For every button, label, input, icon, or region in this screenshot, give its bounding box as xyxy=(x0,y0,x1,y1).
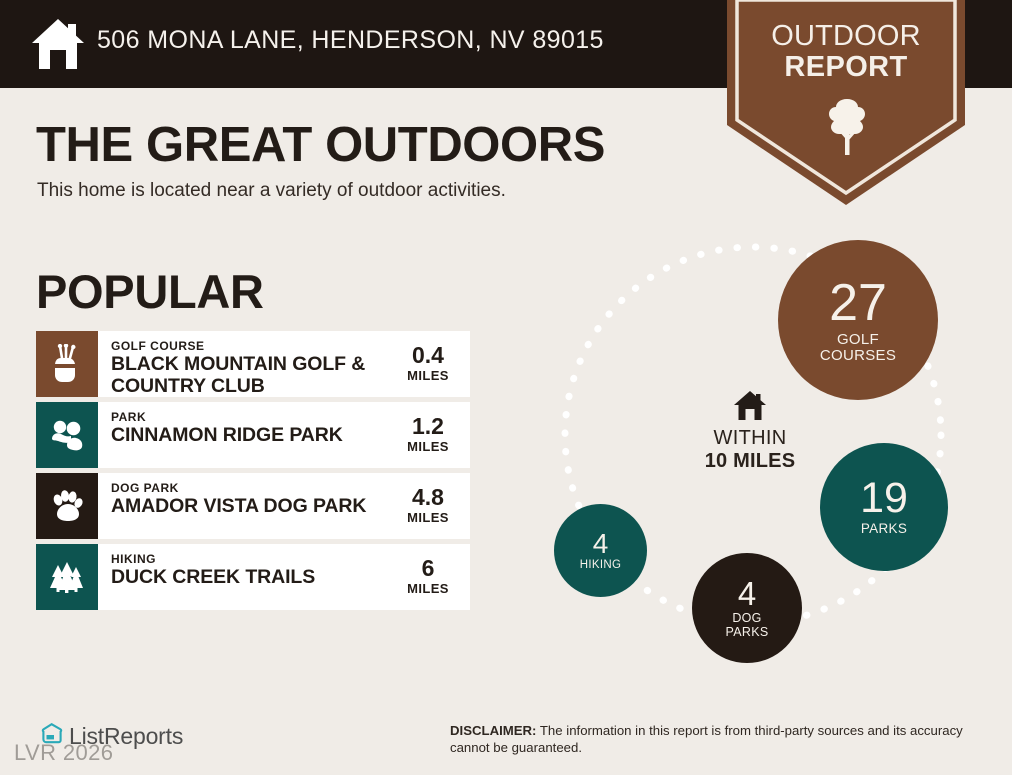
disclaimer-label: DISCLAIMER: xyxy=(450,723,536,738)
poi-body: GOLF COURSE BLACK MOUNTAIN GOLF & COUNTR… xyxy=(98,331,386,397)
stat-label-line2: PARKS xyxy=(726,626,769,639)
poi-distance: 0.4 MILES xyxy=(386,331,470,397)
stat-value: 4 xyxy=(738,577,756,610)
poi-body: PARK CINNAMON RIDGE PARK xyxy=(98,402,386,468)
poi-distance: 6 MILES xyxy=(386,544,470,610)
poi-distance-value: 0.4 xyxy=(386,343,470,368)
poi-body: DOG PARK AMADOR VISTA DOG PARK xyxy=(98,473,386,539)
list-item[interactable]: HIKING DUCK CREEK TRAILS 6 MILES xyxy=(36,544,470,610)
poi-name: DUCK CREEK TRAILS xyxy=(111,566,386,588)
poi-category: DOG PARK xyxy=(111,481,386,495)
poi-name: AMADOR VISTA DOG PARK xyxy=(111,495,386,517)
poi-name: CINNAMON RIDGE PARK xyxy=(111,424,386,446)
stat-circle-golf-courses: 27 GOLF COURSES xyxy=(778,240,938,400)
poi-category: GOLF COURSE xyxy=(111,339,386,353)
poi-distance-unit: MILES xyxy=(386,581,470,597)
poi-distance-unit: MILES xyxy=(386,439,470,455)
stat-label-line2: COURSES xyxy=(820,348,896,364)
popular-heading: POPULAR xyxy=(36,264,264,319)
center-line1: WITHIN xyxy=(665,427,835,450)
stat-label-line1: HIKING xyxy=(580,559,621,571)
poi-distance-unit: MILES xyxy=(386,510,470,526)
page-subtitle: This home is located near a variety of o… xyxy=(37,180,506,202)
golf-bag-icon xyxy=(51,344,83,384)
poi-icon-tile xyxy=(36,473,98,539)
home-icon xyxy=(733,390,767,421)
stat-label-line1: DOG xyxy=(732,612,761,625)
badge-title: OUTDOOR REPORT xyxy=(727,21,965,83)
poi-icon-tile xyxy=(36,402,98,468)
page-title: THE GREAT OUTDOORS xyxy=(36,117,605,173)
pine-trees-icon xyxy=(48,561,86,593)
home-icon xyxy=(30,17,86,71)
stat-circle-hiking: 4 HIKING xyxy=(554,504,647,597)
outdoor-report-badge: OUTDOOR REPORT xyxy=(727,0,965,205)
list-item[interactable]: DOG PARK AMADOR VISTA DOG PARK 4.8 MILES xyxy=(36,473,470,539)
list-item[interactable]: PARK CINNAMON RIDGE PARK 1.2 MILES xyxy=(36,402,470,468)
badge-title-line1: OUTDOOR xyxy=(727,21,965,52)
within-10-miles-chart: 27 GOLF COURSES 19 PARKS 4 DOG PARKS 4 H… xyxy=(510,220,1000,670)
poi-body: HIKING DUCK CREEK TRAILS xyxy=(98,544,386,610)
badge-title-line2: REPORT xyxy=(727,52,965,83)
center-line2: 10 MILES xyxy=(665,450,835,473)
poi-category: PARK xyxy=(111,410,386,424)
stat-label-line1: GOLF xyxy=(837,332,879,348)
property-address: 506 MONA LANE, HENDERSON, NV 89015 xyxy=(97,26,604,55)
poi-icon-tile xyxy=(36,331,98,397)
stat-value: 27 xyxy=(829,277,887,329)
poi-distance: 4.8 MILES xyxy=(386,473,470,539)
disclaimer: DISCLAIMER: The information in this repo… xyxy=(450,722,970,756)
poi-name: BLACK MOUNTAIN GOLF & COUNTRY CLUB xyxy=(111,353,386,397)
stat-value: 19 xyxy=(860,477,908,520)
poi-distance-unit: MILES xyxy=(386,368,470,384)
park-people-icon xyxy=(49,419,85,451)
poi-icon-tile xyxy=(36,544,98,610)
chart-center-label: WITHIN 10 MILES xyxy=(665,390,835,473)
paw-print-icon xyxy=(50,489,84,523)
stat-circle-dog-parks: 4 DOG PARKS xyxy=(692,553,802,663)
poi-distance-value: 4.8 xyxy=(386,485,470,510)
stat-circle-parks: 19 PARKS xyxy=(820,443,948,571)
poi-distance-value: 6 xyxy=(386,556,470,581)
stat-label-line1: PARKS xyxy=(861,522,907,536)
watermark: LVR 2026 xyxy=(14,740,113,766)
popular-list: GOLF COURSE BLACK MOUNTAIN GOLF & COUNTR… xyxy=(36,331,470,615)
list-item[interactable]: GOLF COURSE BLACK MOUNTAIN GOLF & COUNTR… xyxy=(36,331,470,397)
poi-category: HIKING xyxy=(111,552,386,566)
outdoor-report-page: 506 MONA LANE, HENDERSON, NV 89015 OUTDO… xyxy=(0,0,1012,775)
tree-icon xyxy=(827,98,867,156)
poi-distance-value: 1.2 xyxy=(386,414,470,439)
stat-value: 4 xyxy=(593,530,609,558)
poi-distance: 1.2 MILES xyxy=(386,402,470,468)
